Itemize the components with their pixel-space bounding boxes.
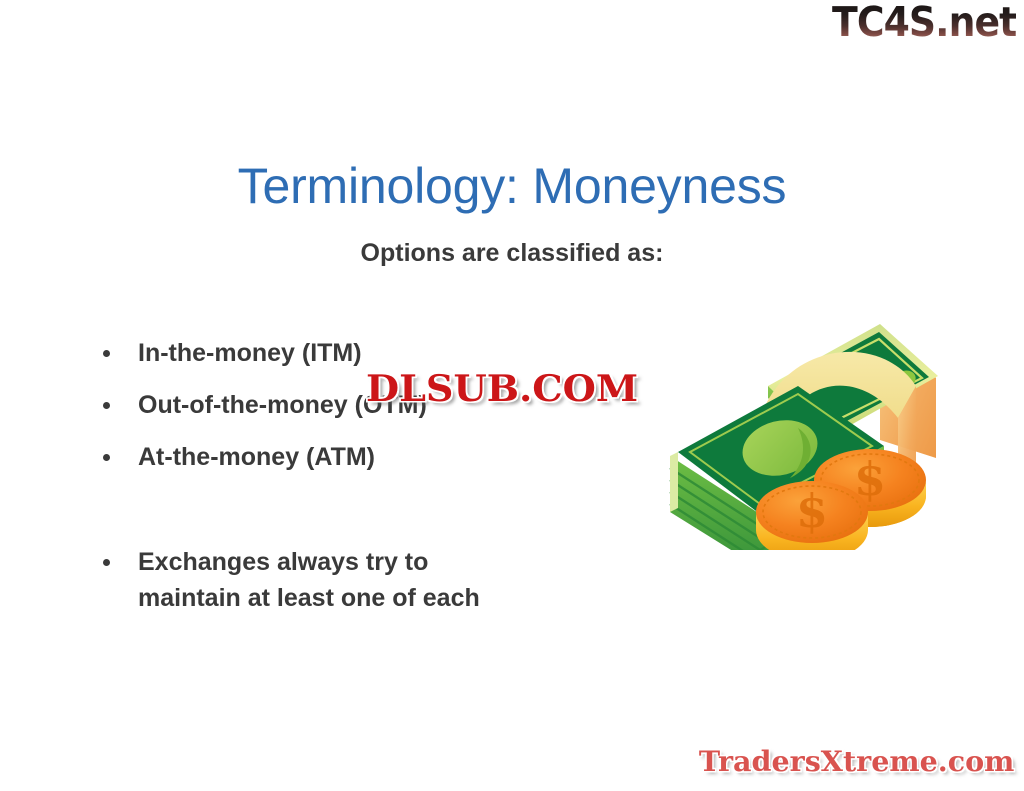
slide-canvas: TC4S.net Terminology: Moneyness Options … xyxy=(0,0,1024,791)
watermark-tradersxtreme-com: TradersXtreme.com xyxy=(698,745,1014,779)
money-illustration: $ $ xyxy=(648,300,958,550)
coin-dollar-symbol-front: $ xyxy=(796,484,828,538)
page-title: Terminology: Moneyness xyxy=(0,158,1024,214)
list-item-line-1: Exchanges always try to xyxy=(138,544,656,580)
watermark-dlsub-com: DLSUB.COM xyxy=(366,367,638,411)
watermark-tc4s-net: TC4S.net xyxy=(832,2,1016,43)
list-item: At-the-money (ATM) xyxy=(96,439,656,475)
slide-subtitle: Options are classified as: xyxy=(0,238,1024,268)
list-item-line-2: maintain at least one of each xyxy=(138,580,656,616)
list-item: In-the-money (ITM) xyxy=(96,335,656,371)
list-item: Exchanges always try to maintain at leas… xyxy=(96,544,656,616)
stack-of-money-icon: $ $ xyxy=(648,300,958,550)
